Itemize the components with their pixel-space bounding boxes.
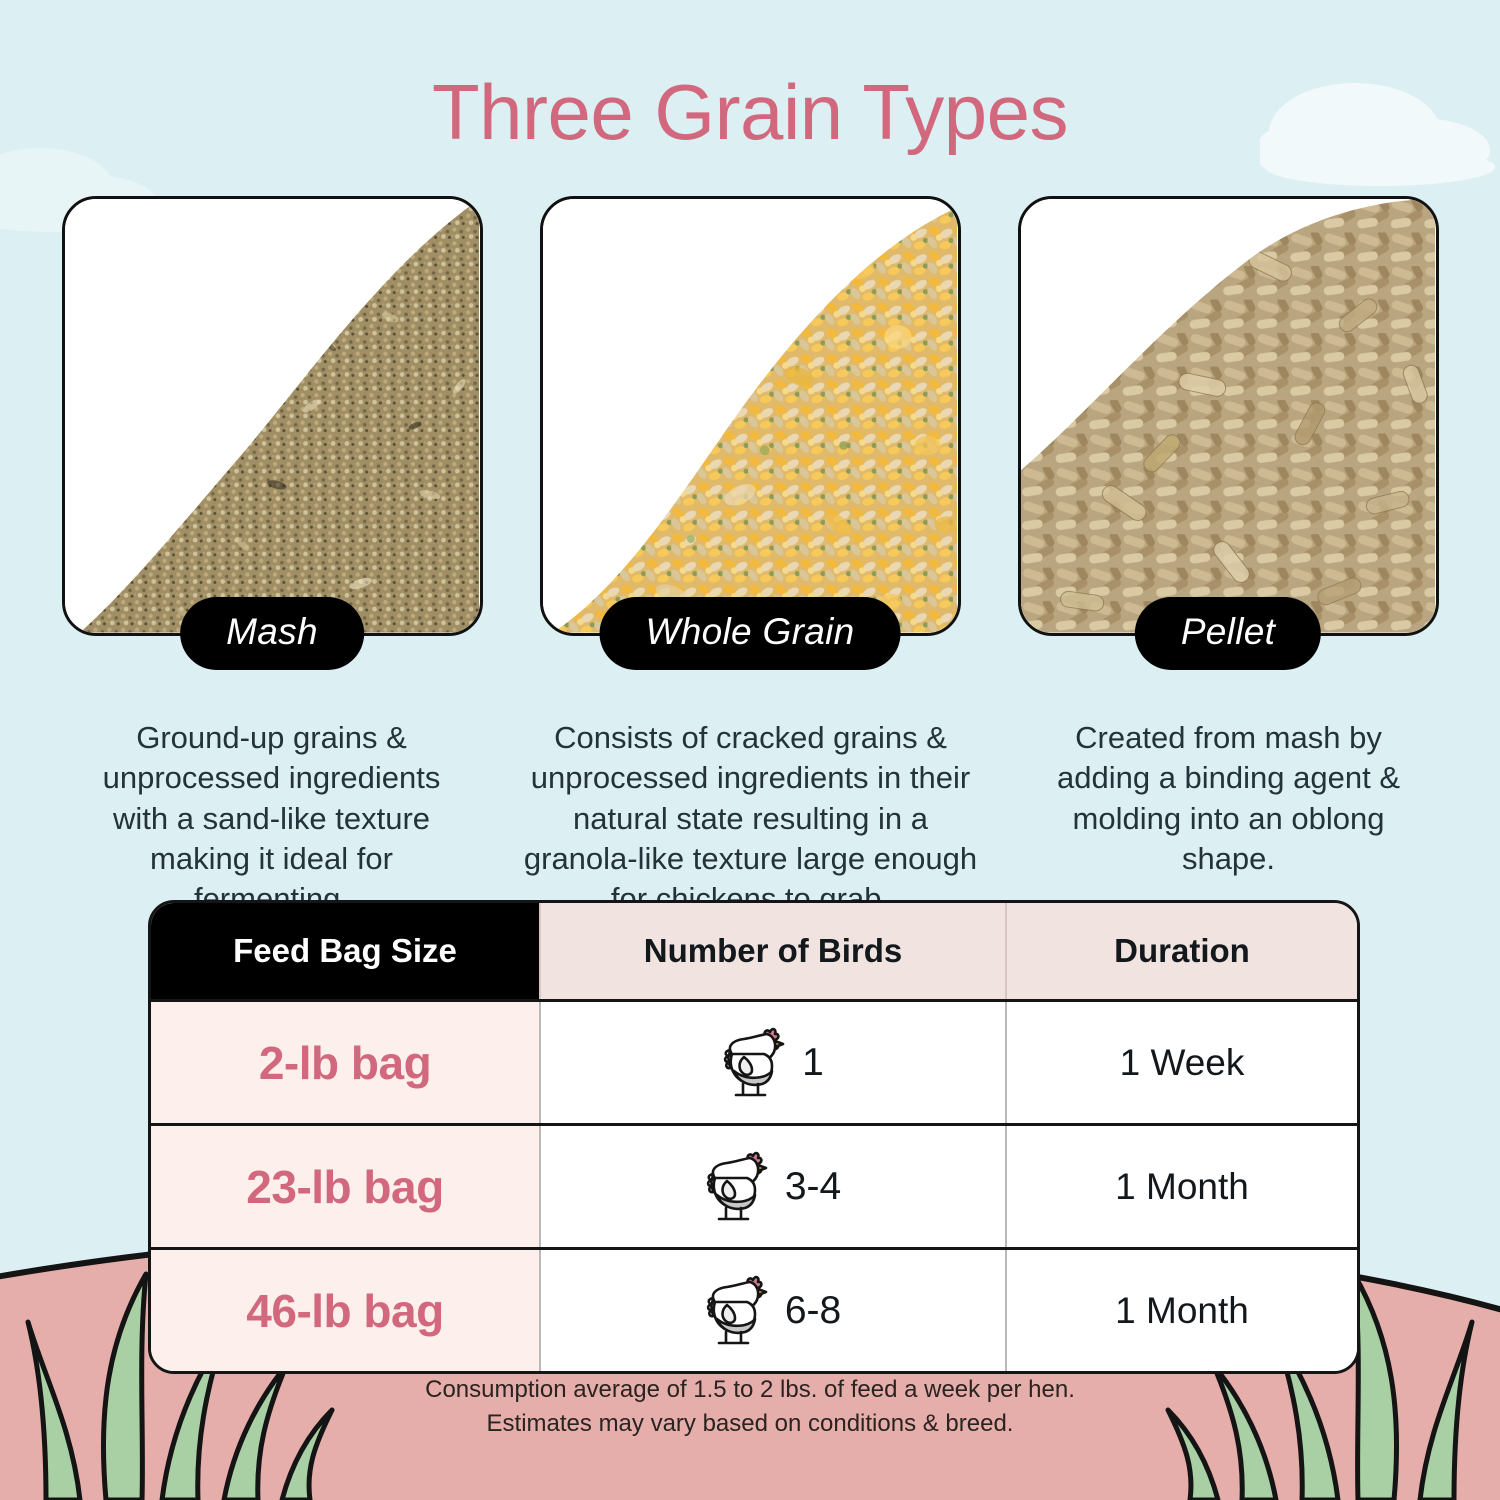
cell-duration: 1 Month <box>1005 1126 1357 1247</box>
grain-card-pellet: Pellet Created from mash by adding a bin… <box>1018 196 1439 919</box>
cell-duration: 1 Month <box>1005 1250 1357 1371</box>
grain-mash-photo <box>65 199 480 633</box>
cell-bag-size: 23-lb bag <box>151 1126 539 1247</box>
table-header-duration: Duration <box>1005 903 1357 999</box>
footnote-line-2: Estimates may vary based on conditions &… <box>0 1407 1500 1441</box>
cell-bag-size: 46-lb bag <box>151 1250 539 1371</box>
grain-description: Consists of cracked grains & unprocessed… <box>516 718 986 919</box>
grain-card-mash: Mash Ground-up grains & unprocessed ingr… <box>62 196 483 919</box>
feed-bag-table: Feed Bag Size Number of Birds Duration 2… <box>148 900 1360 1374</box>
infographic-root: Three Grain Types <box>0 0 1500 1500</box>
page-title: Three Grain Types <box>0 72 1500 154</box>
table-row: 46-lb bag <box>151 1247 1357 1371</box>
grain-label-pill: Pellet <box>1135 597 1321 670</box>
bird-count: 6-8 <box>785 1289 841 1333</box>
grain-label-pill: Mash <box>180 597 364 670</box>
footnote: Consumption average of 1.5 to 2 lbs. of … <box>0 1373 1500 1442</box>
bird-count: 1 <box>802 1041 824 1085</box>
grain-photo-frame <box>62 196 483 636</box>
cell-number-of-birds: 3-4 <box>539 1126 1005 1247</box>
footnote-line-1: Consumption average of 1.5 to 2 lbs. of … <box>0 1373 1500 1407</box>
grain-photo-frame <box>540 196 961 636</box>
grain-type-cards: Mash Ground-up grains & unprocessed ingr… <box>0 196 1500 919</box>
grain-photo-frame <box>1018 196 1439 636</box>
grain-description: Created from mash by adding a binding ag… <box>1044 718 1414 879</box>
cell-number-of-birds: 1 <box>539 1002 1005 1123</box>
hen-icon <box>705 1148 769 1226</box>
cell-number-of-birds: 6-8 <box>539 1250 1005 1371</box>
cell-bag-size: 2-lb bag <box>151 1002 539 1123</box>
hen-icon <box>705 1272 769 1350</box>
table-header-feed-bag-size: Feed Bag Size <box>151 903 539 999</box>
grain-card-whole-grain: Whole Grain Consists of cracked grains &… <box>540 196 961 919</box>
table-row: 2-lb bag <box>151 999 1357 1123</box>
table-header-number-of-birds: Number of Birds <box>539 903 1005 999</box>
grain-pellet-photo <box>1021 199 1436 633</box>
grain-whole-photo <box>543 199 958 633</box>
hen-icon <box>722 1024 786 1102</box>
cell-duration: 1 Week <box>1005 1002 1357 1123</box>
table-header-row: Feed Bag Size Number of Birds Duration <box>151 903 1357 999</box>
bird-count: 3-4 <box>785 1165 841 1209</box>
grain-label-pill: Whole Grain <box>600 597 901 670</box>
table-row: 23-lb bag <box>151 1123 1357 1247</box>
grain-description: Ground-up grains & unprocessed ingredien… <box>72 718 472 919</box>
